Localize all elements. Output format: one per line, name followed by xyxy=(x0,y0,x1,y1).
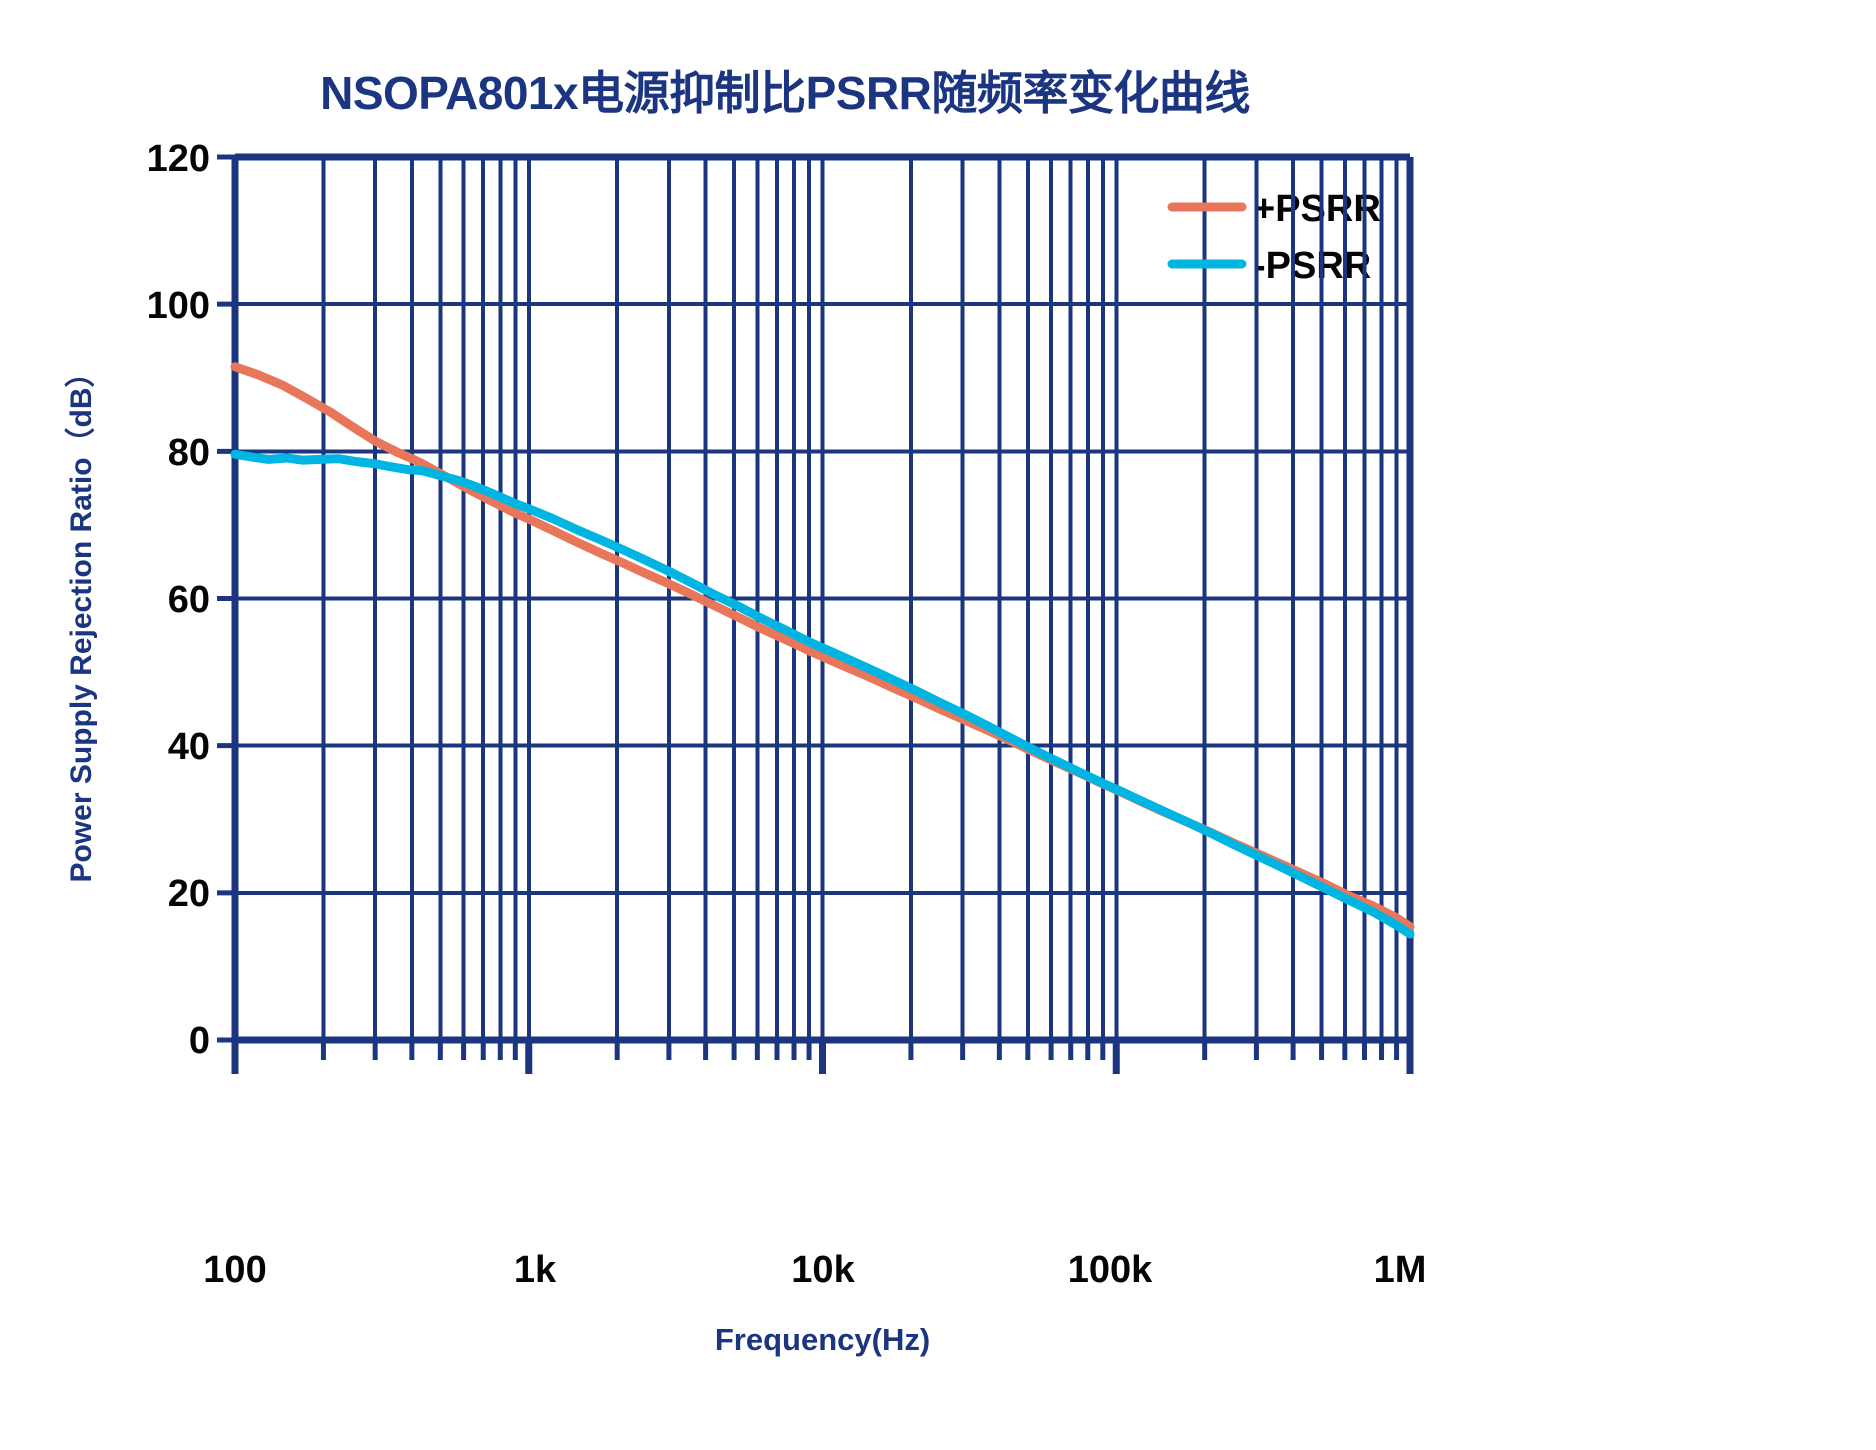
gridlines xyxy=(235,157,1410,1040)
plot-area xyxy=(0,0,1876,1450)
x-axis-ticks xyxy=(235,1040,1410,1074)
chart-figure: NSOPA801x电源抑制比PSRR随频率变化曲线 Power Supply R… xyxy=(0,0,1876,1450)
legend-swatches xyxy=(1172,207,1242,264)
